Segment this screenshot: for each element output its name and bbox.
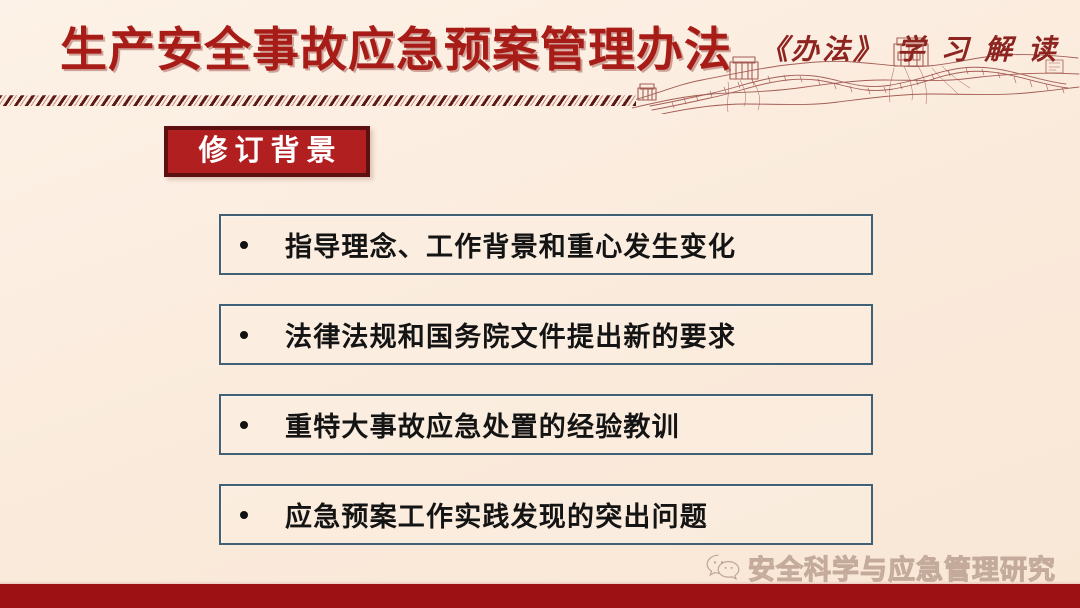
bullet-dot-icon (240, 421, 248, 429)
section-badge: 修订背景 (164, 126, 370, 177)
list-item-label: 法律法规和国务院文件提出新的要求 (285, 315, 736, 354)
list-item: 法律法规和国务院文件提出新的要求 (219, 304, 873, 365)
list-item: 重特大事故应急处置的经验教训 (219, 394, 873, 455)
bullet-dot-icon (240, 511, 248, 519)
list-item: 指导理念、工作背景和重心发生变化 (219, 214, 873, 275)
bottom-bar (0, 584, 1080, 608)
list-item: 应急预案工作实践发现的突出问题 (219, 484, 873, 545)
presentation-slide: 生产安全事故应急预案管理办法 《办法》 学 习 解 读 修订背景 指导理念、工作… (0, 0, 1080, 608)
list-item-label: 指导理念、工作背景和重心发生变化 (285, 225, 736, 264)
page-title: 生产安全事故应急预案管理办法 (60, 21, 732, 79)
bullet-dot-icon (240, 331, 248, 339)
bullet-list: 指导理念、工作背景和重心发生变化 法律法规和国务院文件提出新的要求 重特大事故应… (219, 214, 873, 574)
bullet-dot-icon (240, 241, 248, 249)
subtitle-calligraphy: 《办法》 学 习 解 读 (760, 28, 1020, 68)
hatch-divider (0, 95, 636, 106)
list-item-label: 重特大事故应急处置的经验教训 (285, 405, 680, 444)
list-item-label: 应急预案工作实践发现的突出问题 (285, 495, 708, 534)
section-badge-label: 修订背景 (191, 137, 342, 166)
